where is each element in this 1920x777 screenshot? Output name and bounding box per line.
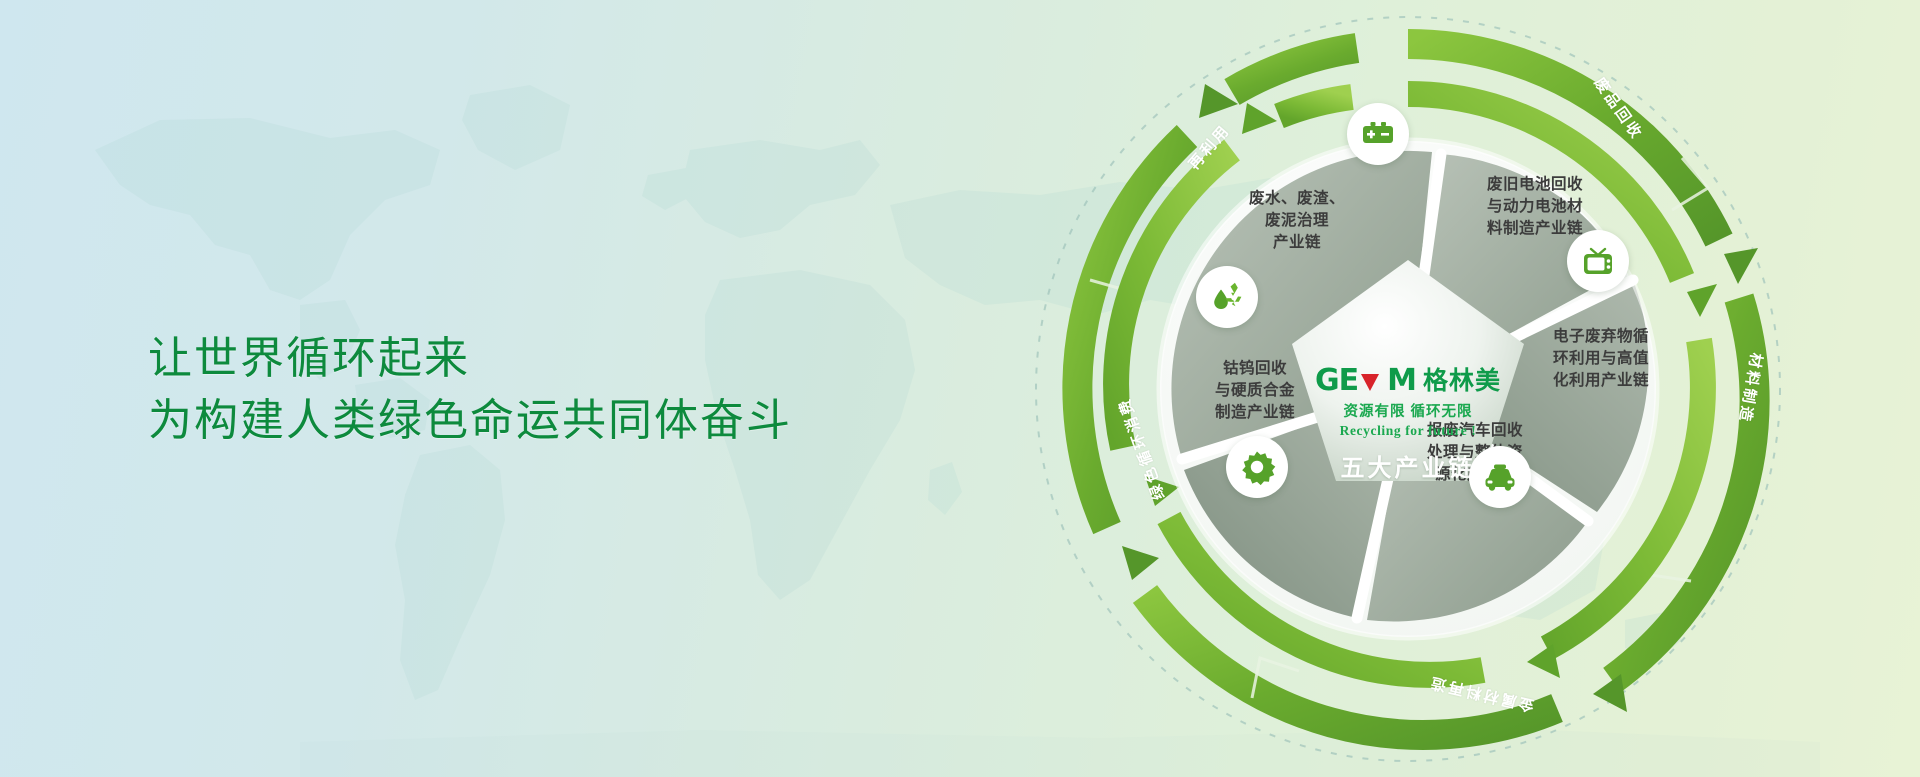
headline-line-1: 让世界循环起来 (148, 330, 792, 388)
headline-line-2: 为构建人类绿色命运共同体奋斗 (148, 392, 792, 450)
circular-economy-diagram: 废旧电池回收 与动力电池材 料制造产业链 电子废弃物循 环利用与高值 化利用产业… (1027, 8, 1789, 770)
gear-icon (1239, 449, 1275, 485)
battery-icon (1360, 116, 1396, 152)
water-recycle-icon (1209, 279, 1245, 315)
headline: 让世界循环起来 为构建人类绿色命运共同体奋斗 (148, 330, 792, 450)
television-icon (1580, 243, 1616, 279)
banner-root: 让世界循环起来 为构建人类绿色命运共同体奋斗 (0, 0, 1920, 777)
car-icon-bubble[interactable] (1469, 446, 1531, 508)
television-icon-bubble[interactable] (1567, 230, 1629, 292)
segment-label-ewaste: 电子废弃物循 环利用与高值 化利用产业链 (1521, 326, 1681, 392)
segment-label-wastewater: 废水、废渣、 废泥治理 产业链 (1217, 188, 1377, 254)
battery-icon-bubble[interactable] (1347, 103, 1409, 165)
center-title: 五大产业链 (1341, 448, 1476, 483)
water-recycle-icon-bubble[interactable] (1196, 266, 1258, 328)
segment-label-cobalt-tungsten: 钴钨回收 与硬质合金 制造产业链 (1175, 358, 1335, 424)
gear-icon-bubble[interactable] (1226, 436, 1288, 498)
car-icon (1482, 459, 1518, 495)
